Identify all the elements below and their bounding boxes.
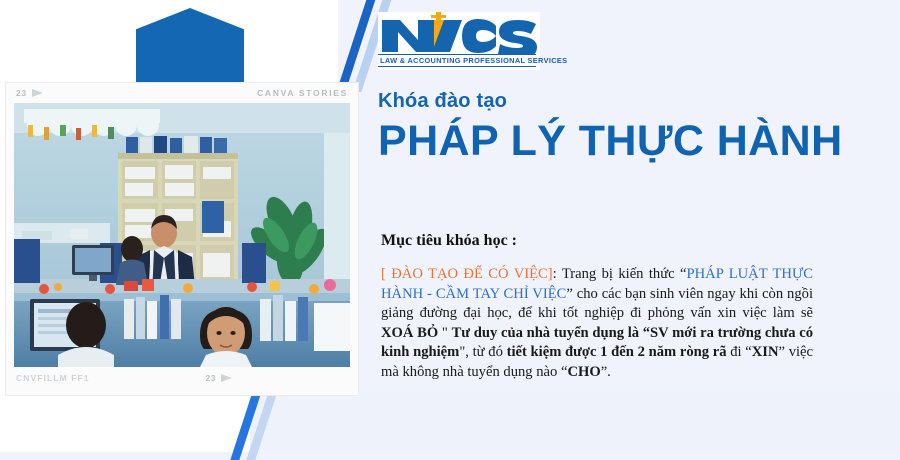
brand-logo: LAW & ACCOUNTING PROFESSIONAL SERVICES <box>378 12 540 70</box>
para-text-5: đi “ <box>727 344 752 360</box>
film-code-label: CNVFILLM FF1 <box>16 373 90 383</box>
logo-tagline: LAW & ACCOUNTING PROFESSIONAL SERVICES <box>378 54 536 67</box>
para-bold-4: XIN <box>752 344 779 360</box>
kicker-text: Khóa đào tạo <box>378 90 507 113</box>
nics-logo-icon <box>378 12 540 54</box>
play-triangle-icon-bottom <box>221 374 232 382</box>
para-bold-5: CHO <box>567 364 600 380</box>
page-title: PHÁP LÝ THỰC HÀNH <box>378 117 843 166</box>
film-frame-number-top: 23 <box>16 88 27 98</box>
office-workspace-photo <box>14 103 350 367</box>
light-blue-wedge <box>238 392 900 454</box>
play-triangle-icon <box>32 89 43 97</box>
para-text-7: ”. <box>601 364 611 380</box>
white-panel-bottom-left <box>0 396 250 452</box>
para-text-4: ", từ đó <box>459 344 506 360</box>
para-text-1: : Trang bị kiến thức “ <box>553 266 687 282</box>
film-frame-bottom-center: 23 <box>205 373 232 383</box>
film-brand-label: CANVA STORIES <box>257 88 348 98</box>
body-paragraph: [ ĐÀO TẠO ĐỂ CÓ VIỆC]: Trang bị kiến thứ… <box>381 265 813 383</box>
office-scene-illustration <box>14 103 350 367</box>
para-bold-3: tiết kiệm được 1 đến 2 năm ròng rã <box>507 344 727 360</box>
film-frame-top-bar: 23 CANVA STORIES <box>6 83 358 103</box>
film-frame-bottom-bar: CNVFILLM FF1 23 <box>6 367 358 389</box>
para-highlight-orange: [ ĐÀO TẠO ĐỂ CÓ VIỆC] <box>381 266 553 282</box>
logo-wordmark-nics <box>378 12 540 54</box>
section-title: Mục tiêu khóa học : <box>381 232 517 250</box>
photo-film-frame: 23 CANVA STORIES <box>6 83 358 395</box>
para-bold-1: XOÁ BỎ <box>381 325 438 341</box>
film-frame-number-bottom: 23 <box>205 373 216 383</box>
para-text-3: " <box>438 325 451 341</box>
